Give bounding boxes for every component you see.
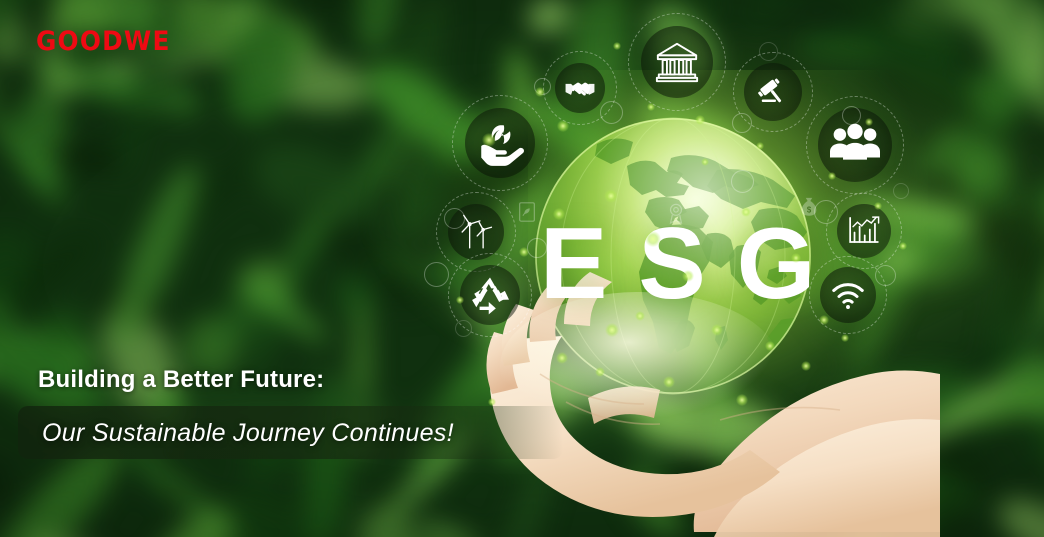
bank-icon — [654, 39, 700, 85]
goodwe-logo[interactable]: GOODWE — [36, 28, 171, 55]
people-group-icon — [830, 120, 880, 170]
page-subtitle: Our Sustainable Journey Continues! — [42, 419, 454, 448]
recycle-icon — [470, 275, 510, 315]
decor-circle — [731, 170, 754, 193]
decor-circle — [534, 78, 551, 95]
page-title: Building a Better Future: — [38, 366, 324, 394]
wifi-icon-node[interactable] — [809, 256, 887, 334]
decor-circle — [893, 183, 909, 199]
decor-circle — [759, 42, 778, 61]
hand-plant-icon-node[interactable] — [452, 95, 548, 191]
decor-circle — [527, 238, 547, 258]
decor-circle — [842, 106, 861, 125]
esg-wordmark: ESG — [540, 214, 846, 315]
decor-circle — [732, 113, 752, 133]
svg-text:$: $ — [807, 206, 812, 215]
decor-circle — [875, 265, 896, 286]
esg-banner: ESG — [0, 0, 1044, 537]
decor-circle — [444, 208, 465, 229]
eco-document-icon — [516, 201, 538, 223]
decor-circle — [455, 320, 472, 337]
gavel-icon — [755, 74, 791, 110]
award-badge-icon — [665, 202, 687, 224]
hand-plant-icon — [475, 118, 525, 168]
bar-chart-icon — [847, 214, 882, 249]
decor-circle — [600, 101, 623, 124]
money-bag-icon: $ — [798, 196, 820, 218]
wifi-icon — [830, 277, 866, 313]
handshake-icon — [564, 72, 597, 105]
decor-circle — [424, 262, 449, 287]
bank-icon-node[interactable] — [628, 13, 726, 111]
